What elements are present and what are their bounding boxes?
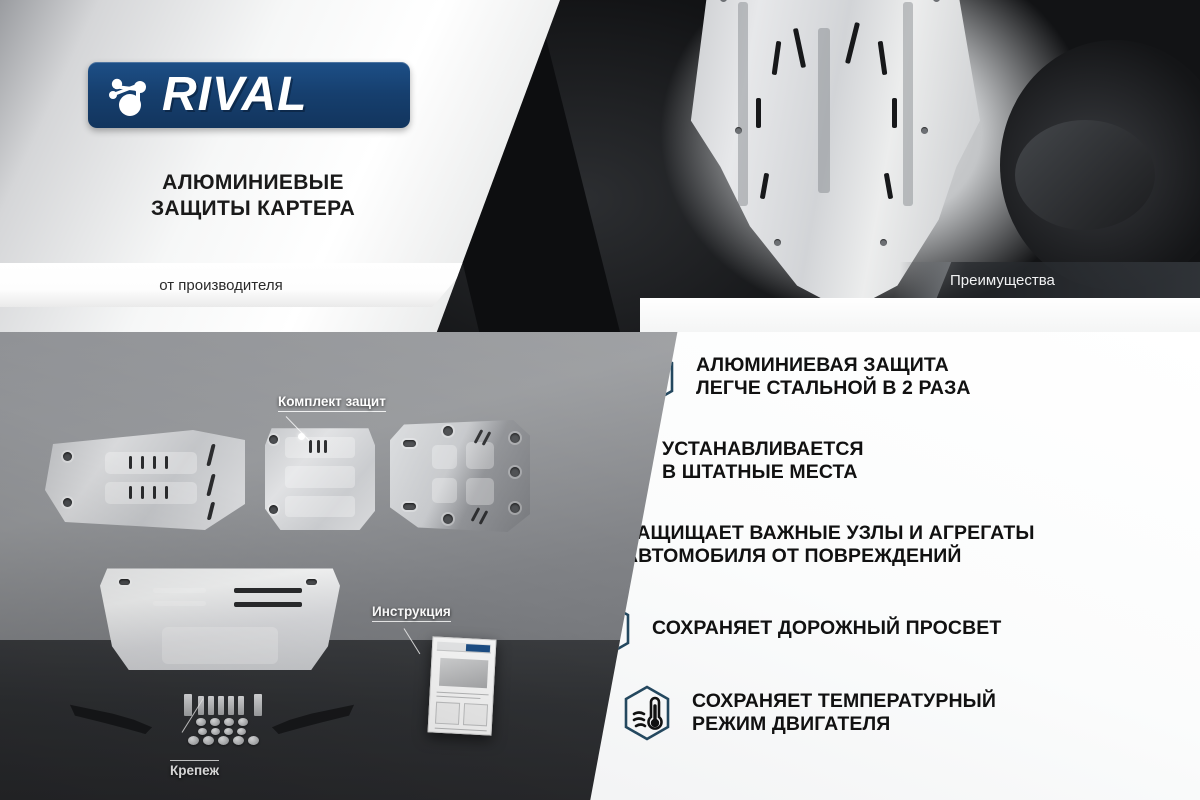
feature-item: АЛЮМИНИЕВАЯ ЗАЩИТА ЛЕГЧЕ СТАЛЬНОЙ В 2 РА…	[620, 346, 1190, 408]
feature-item: СОХРАНЯЕТ ДОРОЖНЫЙ ПРОСВЕТ	[576, 598, 1190, 660]
white-divider-strip	[640, 298, 1200, 332]
hero-title-line2: ЗАЩИТЫ КАРТЕРА	[88, 196, 418, 222]
mounting-bracket-left	[70, 700, 152, 734]
feature-text: СОХРАНЯЕТ ДОРОЖНЫЙ ПРОСВЕТ	[652, 617, 1001, 640]
page-title: АЛЮМИНИЕВЫЕ ЗАЩИТЫ КАРТЕРА	[88, 170, 418, 222]
hero-subtitle: от производителя	[159, 277, 310, 294]
callout-kit-label: Комплект защит	[278, 394, 386, 409]
leader-line-kit	[286, 416, 310, 441]
thermometer-icon	[616, 682, 678, 744]
molecule-icon	[104, 71, 160, 119]
feature-line1: СОХРАНЯЕТ ТЕМПЕРАТУРНЫЙ	[692, 690, 996, 712]
hero-title-line1: АЛЮМИНИЕВЫЕ	[88, 170, 418, 196]
advantages-badge: Преимущества	[900, 262, 1200, 298]
callout-instruction: Инструкция	[372, 604, 451, 622]
callout-kit: Комплект защит	[278, 394, 386, 412]
fastener-set	[184, 694, 264, 742]
feature-line2: ЛЕГЧЕ СТАЛЬНОЙ В 2 РАЗА	[696, 377, 971, 399]
callout-fasteners: Крепеж	[170, 760, 219, 778]
skid-plate-left	[45, 430, 245, 530]
callout-fasteners-label: Крепеж	[170, 763, 219, 778]
callout-instruction-label: Инструкция	[372, 604, 451, 619]
callout-kit-dot	[298, 433, 305, 440]
feature-line2: АВТОМОБИЛЯ ОТ ПОВРЕЖДЕНИЙ	[624, 545, 962, 567]
feature-text: УСТАНАВЛИВАЕТСЯ В ШТАТНЫЕ МЕСТА	[662, 438, 864, 485]
feature-text: СОХРАНЯЕТ ТЕМПЕРАТУРНЫЙ РЕЖИМ ДВИГАТЕЛЯ	[692, 690, 996, 737]
features-list: АЛЮМИНИЕВАЯ ЗАЩИТА ЛЕГЧЕ СТАЛЬНОЙ В 2 РА…	[620, 346, 1190, 766]
feature-line1: АЛЮМИНИЕВАЯ ЗАЩИТА	[696, 354, 949, 376]
feature-line2: В ШТАТНЫЕ МЕСТА	[662, 461, 858, 483]
rival-logo[interactable]: RIVAL	[88, 62, 410, 128]
feature-text: АЛЮМИНИЕВАЯ ЗАЩИТА ЛЕГЧЕ СТАЛЬНОЙ В 2 РА…	[696, 354, 971, 401]
instruction-sheet-back	[428, 636, 497, 735]
skid-plate-right	[390, 420, 530, 532]
badge-stripe	[893, 262, 952, 298]
feature-line1: СОХРАНЯЕТ ДОРОЖНЫЙ ПРОСВЕТ	[652, 617, 1001, 639]
feature-line2: РЕЖИМ ДВИГАТЕЛЯ	[692, 713, 890, 735]
leader-line-fasteners	[182, 698, 204, 732]
hero-subtitle-bar: от производителя	[0, 263, 470, 307]
product-showcase-panel: Комплект защит Инструкция Крепеж	[0, 332, 700, 800]
feature-item: СОХРАНЯЕТ ТЕМПЕРАТУРНЫЙ РЕЖИМ ДВИГАТЕЛЯ	[616, 682, 1190, 744]
skid-plate-large-flat	[100, 562, 340, 670]
feature-item: ЗАЩИЩАЕТ ВАЖНЫЕ УЗЛЫ И АГРЕГАТЫ АВТОМОБИ…	[548, 514, 1190, 576]
promo-banner: Преимущества	[0, 0, 1200, 800]
mounting-bracket-right	[272, 700, 354, 734]
rival-logo-text: RIVAL	[162, 71, 307, 119]
feature-item: УСТАНАВЛИВАЕТСЯ В ШТАТНЫЕ МЕСТА	[586, 430, 1190, 492]
skid-plate-middle	[265, 424, 375, 530]
feature-line1: УСТАНАВЛИВАЕТСЯ	[662, 438, 864, 460]
leader-line-instruction	[404, 628, 421, 654]
feature-text: ЗАЩИЩАЕТ ВАЖНЫЕ УЗЛЫ И АГРЕГАТЫ АВТОМОБИ…	[624, 522, 1035, 569]
advantages-badge-label: Преимущества	[950, 272, 1055, 289]
feature-line1: ЗАЩИЩАЕТ ВАЖНЫЕ УЗЛЫ И АГРЕГАТЫ	[624, 522, 1035, 544]
